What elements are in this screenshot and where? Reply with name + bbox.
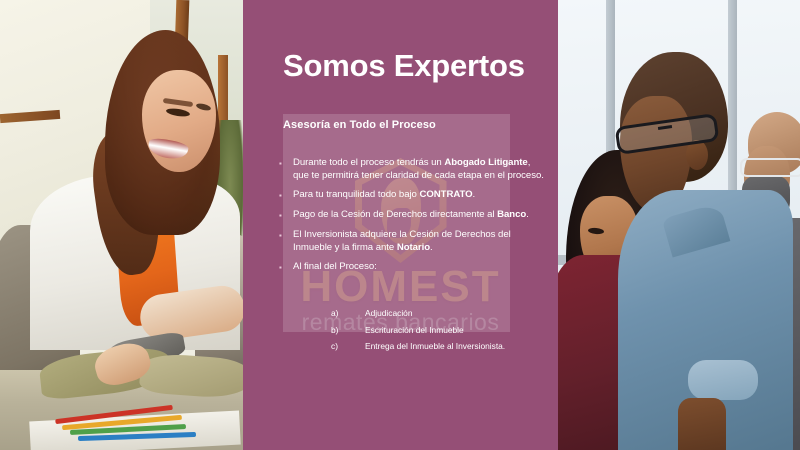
sub-list-item: b)Escrituración del Inmueble bbox=[331, 324, 546, 336]
bullet-text-segment: Durante todo el proceso tendrás un bbox=[293, 157, 444, 168]
bullet-list: ▪Durante todo el proceso tendrás un Abog… bbox=[279, 156, 544, 280]
slide: HOMEST remates bancarios Somos Expertos … bbox=[0, 0, 800, 450]
bullet-item: ▪El Inversionista adquiere la Cesión de … bbox=[279, 228, 544, 254]
bullet-text-segment: Al final del Proceso: bbox=[293, 261, 377, 272]
page-title: Somos Expertos bbox=[283, 50, 543, 83]
sub-list-text: Entrega del Inmueble al Inversionista. bbox=[365, 340, 505, 352]
sub-list-text: Adjudicación bbox=[365, 307, 413, 319]
bullet-marker-icon: ▪ bbox=[279, 208, 293, 222]
bullet-item: ▪Durante todo el proceso tendrás un Abog… bbox=[279, 156, 544, 182]
bullet-text-segment: . bbox=[430, 242, 433, 253]
bullet-text-segment: Para tu tranquilidad todo bajo bbox=[293, 189, 419, 200]
bullet-text-emphasis: Banco bbox=[497, 209, 526, 220]
photo-left bbox=[0, 0, 243, 450]
bullet-marker-icon: ▪ bbox=[279, 228, 293, 254]
bullet-text: Pago de la Cesión de Derechos directamen… bbox=[293, 208, 544, 222]
photo-right-man-rolled-sleeve bbox=[688, 360, 758, 400]
bullet-text: Durante todo el proceso tendrás un Aboga… bbox=[293, 156, 544, 182]
bullet-marker-icon: ▪ bbox=[279, 260, 293, 274]
sub-list-text: Escrituración del Inmueble bbox=[365, 324, 464, 336]
bullet-text-segment: Pago de la Cesión de Derechos directamen… bbox=[293, 209, 497, 220]
photo-right-man-forearm bbox=[678, 398, 726, 450]
bullet-text: Para tu tranquilidad todo bajo CONTRATO. bbox=[293, 188, 544, 202]
bullet-text-emphasis: CONTRATO bbox=[419, 189, 472, 200]
sub-list-marker: a) bbox=[331, 307, 365, 319]
bullet-marker-icon: ▪ bbox=[279, 188, 293, 202]
photo-right-person-back-glasses bbox=[740, 158, 800, 177]
section-subtitle: Asesoría en Todo el Proceso bbox=[283, 119, 436, 131]
sub-list-item: c)Entrega del Inmueble al Inversionista. bbox=[331, 340, 546, 352]
sub-list-item: a)Adjudicación bbox=[331, 307, 546, 319]
sub-list-marker: c) bbox=[331, 340, 365, 352]
photo-right bbox=[558, 0, 800, 450]
bullet-text: Al final del Proceso: bbox=[293, 260, 544, 274]
bullet-item: ▪Pago de la Cesión de Derechos directame… bbox=[279, 208, 544, 222]
bullet-item: ▪Al final del Proceso: bbox=[279, 260, 544, 274]
bullet-text: El Inversionista adquiere la Cesión de D… bbox=[293, 228, 544, 254]
bullet-text-emphasis: Notario bbox=[397, 242, 430, 253]
bullet-text-segment: . bbox=[473, 189, 476, 200]
bullet-text-emphasis: Abogado Litigante bbox=[444, 157, 527, 168]
sub-list: a)Adjudicaciónb)Escrituración del Inmueb… bbox=[331, 307, 546, 357]
content-panel: HOMEST remates bancarios Somos Expertos … bbox=[243, 0, 558, 450]
bullet-text-segment: . bbox=[526, 209, 529, 220]
bullet-marker-icon: ▪ bbox=[279, 156, 293, 182]
sub-list-marker: b) bbox=[331, 324, 365, 336]
bullet-item: ▪Para tu tranquilidad todo bajo CONTRATO… bbox=[279, 188, 544, 202]
